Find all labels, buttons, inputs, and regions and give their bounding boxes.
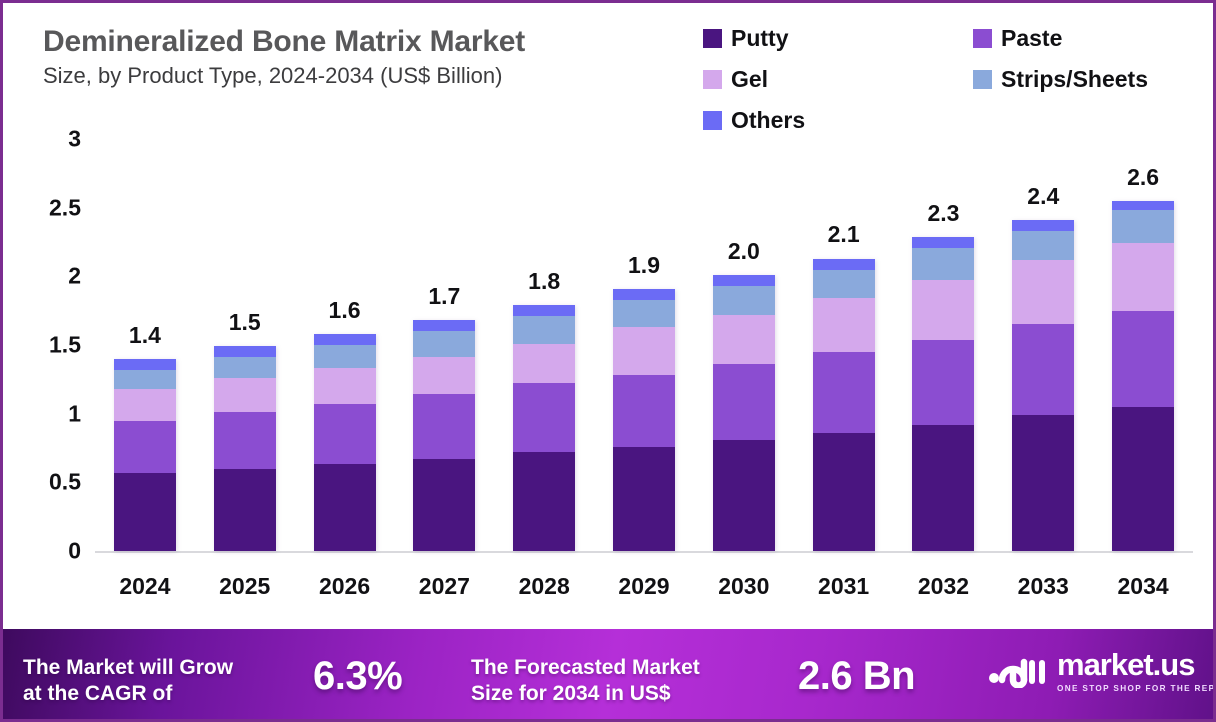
bar-segment-gel[interactable] [413, 357, 475, 394]
chart-plot-area: 00.511.522.53 1.420241.520251.620261.720… [3, 123, 1216, 618]
bar-group: 2.1 [813, 123, 875, 551]
stacked-bar[interactable] [912, 237, 974, 551]
brand-text: market.us ONE STOP SHOP FOR THE REPORTS [1057, 649, 1216, 693]
y-axis: 00.511.522.53 [3, 123, 95, 618]
bar-segment-others[interactable] [1012, 220, 1074, 231]
bar-segment-strips-sheets[interactable] [1012, 231, 1074, 260]
legend-swatch-icon [703, 29, 722, 48]
stacked-bar[interactable] [114, 359, 176, 551]
bar-group: 2.0 [713, 123, 775, 551]
page-title: Demineralized Bone Matrix Market [43, 25, 525, 59]
bar-segment-putty[interactable] [713, 440, 775, 551]
bar-group: 1.5 [214, 123, 276, 551]
bar-value-label: 1.8 [528, 268, 560, 295]
legend-swatch-icon [973, 29, 992, 48]
footer-size-caption: The Forecasted Market Size for 2034 in U… [471, 655, 700, 707]
market-us-mark-icon [988, 650, 1046, 693]
footer-size-value: 2.6 Bn [798, 654, 915, 699]
bar-group: 1.6 [314, 123, 376, 551]
bar-value-label: 2.3 [927, 200, 959, 227]
x-axis-label: 2024 [119, 573, 170, 600]
bar-segment-others[interactable] [1112, 201, 1174, 211]
bar-segment-others[interactable] [314, 334, 376, 345]
title-block: Demineralized Bone Matrix Market Size, b… [43, 25, 525, 88]
bar-segment-gel[interactable] [813, 298, 875, 352]
bar-segment-putty[interactable] [912, 425, 974, 551]
legend-label: Paste [1001, 25, 1062, 52]
legend-item-gel[interactable]: Gel [703, 66, 768, 93]
bar-value-label: 2.4 [1027, 183, 1059, 210]
bar-segment-strips-sheets[interactable] [214, 357, 276, 378]
legend-swatch-icon [703, 70, 722, 89]
legend-item-paste[interactable]: Paste [973, 25, 1062, 52]
footer-banner: The Market will Grow at the CAGR of 6.3%… [3, 629, 1216, 719]
bar-segment-paste[interactable] [1112, 311, 1174, 407]
bar-value-label: 1.6 [329, 297, 361, 324]
bar-segment-strips-sheets[interactable] [713, 286, 775, 315]
bar-segment-putty[interactable] [1112, 407, 1174, 551]
x-axis-label: 2030 [718, 573, 769, 600]
bar-segment-paste[interactable] [413, 394, 475, 459]
bar-value-label: 2.0 [728, 238, 760, 265]
bar-segment-putty[interactable] [214, 469, 276, 551]
bar-segment-others[interactable] [114, 359, 176, 370]
bar-segment-strips-sheets[interactable] [912, 248, 974, 281]
y-axis-tick: 2 [68, 263, 81, 290]
brand-name: market.us [1057, 649, 1216, 680]
y-axis-tick: 1.5 [49, 332, 81, 359]
bar-value-label: 2.6 [1127, 164, 1159, 191]
bar-segment-others[interactable] [214, 346, 276, 357]
bar-group: 1.4 [114, 123, 176, 551]
chart-legend: Putty Paste Gel Strips/Sheets Others [703, 25, 1203, 135]
bar-value-label: 1.7 [428, 283, 460, 310]
bar-segment-strips-sheets[interactable] [813, 270, 875, 299]
chart-header: Demineralized Bone Matrix Market Size, b… [3, 3, 1216, 123]
legend-item-putty[interactable]: Putty [703, 25, 789, 52]
bar-segment-others[interactable] [713, 275, 775, 286]
x-axis-label: 2032 [918, 573, 969, 600]
bar-segment-paste[interactable] [513, 383, 575, 452]
bar-segment-paste[interactable] [214, 412, 276, 468]
bar-segment-putty[interactable] [114, 473, 176, 551]
bar-group: 2.4 [1012, 123, 1074, 551]
bar-segment-putty[interactable] [1012, 415, 1074, 551]
bar-segment-putty[interactable] [613, 447, 675, 551]
footer-cagr-line1: The Market will Grow [23, 655, 233, 681]
x-axis-label: 2033 [1018, 573, 1069, 600]
x-axis-label: 2031 [818, 573, 869, 600]
bar-segment-paste[interactable] [912, 340, 974, 425]
brand-logo[interactable]: market.us ONE STOP SHOP FOR THE REPORTS [988, 649, 1216, 693]
bar-segment-gel[interactable] [513, 344, 575, 384]
bar-group: 2.3 [912, 123, 974, 551]
legend-label: Putty [731, 25, 789, 52]
x-axis-label: 2029 [618, 573, 669, 600]
bar-segment-gel[interactable] [912, 280, 974, 339]
y-axis-tick: 2.5 [49, 194, 81, 221]
bar-segment-gel[interactable] [314, 368, 376, 404]
bar-segment-gel[interactable] [713, 315, 775, 364]
legend-label: Strips/Sheets [1001, 66, 1148, 93]
bar-segment-others[interactable] [513, 305, 575, 316]
x-axis-label: 2028 [519, 573, 570, 600]
bar-segment-paste[interactable] [813, 352, 875, 433]
footer-cagr-value: 6.3% [313, 654, 402, 699]
bar-series-container: 1.420241.520251.620261.720271.820281.920… [95, 123, 1193, 618]
stacked-bar[interactable] [513, 305, 575, 551]
bar-segment-strips-sheets[interactable] [114, 370, 176, 389]
bar-segment-paste[interactable] [314, 404, 376, 464]
bar-value-label: 1.4 [129, 322, 161, 349]
bar-segment-paste[interactable] [613, 375, 675, 446]
bar-segment-gel[interactable] [114, 389, 176, 421]
bar-segment-others[interactable] [613, 289, 675, 300]
bar-segment-others[interactable] [813, 259, 875, 270]
brand-tagline: ONE STOP SHOP FOR THE REPORTS [1057, 684, 1216, 693]
bar-segment-strips-sheets[interactable] [1112, 210, 1174, 243]
stacked-bar[interactable] [713, 275, 775, 551]
footer-cagr-caption: The Market will Grow at the CAGR of [23, 655, 233, 707]
bar-segment-paste[interactable] [114, 421, 176, 473]
stacked-bar[interactable] [1012, 220, 1074, 551]
y-axis-tick: 0 [68, 538, 81, 565]
stacked-bar[interactable] [214, 346, 276, 551]
bar-value-label: 1.9 [628, 252, 660, 279]
x-axis-label: 2026 [319, 573, 370, 600]
y-axis-tick: 1 [68, 400, 81, 427]
bar-segment-paste[interactable] [1012, 324, 1074, 415]
bar-segment-strips-sheets[interactable] [413, 331, 475, 357]
bar-segment-strips-sheets[interactable] [314, 345, 376, 368]
x-axis-label: 2025 [219, 573, 270, 600]
bar-segment-others[interactable] [912, 237, 974, 248]
bar-segment-putty[interactable] [513, 452, 575, 551]
bar-group: 1.8 [513, 123, 575, 551]
chart-subtitle: Size, by Product Type, 2024-2034 (US$ Bi… [43, 63, 525, 88]
stacked-bar[interactable] [314, 334, 376, 551]
legend-swatch-icon [973, 70, 992, 89]
x-axis-label: 2034 [1117, 573, 1168, 600]
stacked-bar[interactable] [613, 289, 675, 551]
footer-cagr-line2: at the CAGR of [23, 681, 233, 707]
bar-group: 1.9 [613, 123, 675, 551]
legend-label: Gel [731, 66, 768, 93]
x-axis-label: 2027 [419, 573, 470, 600]
bar-value-label: 2.1 [828, 221, 860, 248]
bar-segment-strips-sheets[interactable] [513, 316, 575, 343]
y-axis-tick: 3 [68, 126, 81, 153]
y-axis-tick: 0.5 [49, 469, 81, 496]
bar-segment-paste[interactable] [713, 364, 775, 440]
bar-segment-gel[interactable] [1112, 243, 1174, 310]
stacked-bar[interactable] [1112, 201, 1174, 551]
legend-item-strips-sheets[interactable]: Strips/Sheets [973, 66, 1148, 93]
bar-segment-strips-sheets[interactable] [613, 300, 675, 327]
stacked-bar[interactable] [813, 259, 875, 551]
footer-size-line1: The Forecasted Market [471, 655, 700, 681]
bar-segment-putty[interactable] [813, 433, 875, 551]
bar-segment-putty[interactable] [314, 464, 376, 551]
bar-segment-gel[interactable] [613, 327, 675, 375]
bar-segment-putty[interactable] [413, 459, 475, 551]
footer-size-line2: Size for 2034 in US$ [471, 681, 700, 707]
bar-segment-gel[interactable] [214, 378, 276, 412]
bar-group: 1.7 [413, 123, 475, 551]
bar-group: 2.6 [1112, 123, 1174, 551]
bar-value-label: 1.5 [229, 309, 261, 336]
bar-segment-gel[interactable] [1012, 260, 1074, 325]
bar-segment-others[interactable] [413, 320, 475, 331]
stacked-bar[interactable] [413, 320, 475, 551]
infographic-root: Demineralized Bone Matrix Market Size, b… [0, 0, 1216, 722]
